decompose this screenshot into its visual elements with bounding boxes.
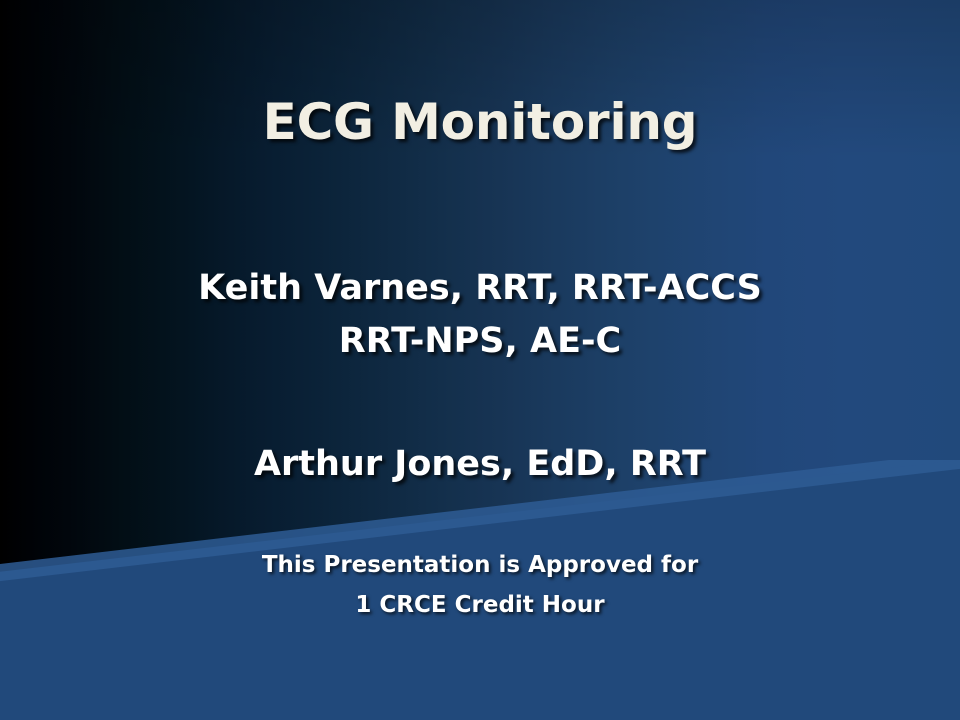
slide-content: ECG Monitoring Keith Varnes, RRT, RRT-AC… xyxy=(0,0,960,720)
author-line-primary: Keith Varnes, RRT, RRT-ACCS xyxy=(0,262,960,315)
author-line-secondary: Arthur Jones, EdD, RRT xyxy=(0,438,960,491)
approval-credit-hours: 1 CRCE Credit Hour xyxy=(0,586,960,626)
presentation-title-slide: ECG Monitoring Keith Varnes, RRT, RRT-AC… xyxy=(0,0,960,720)
author-block: Keith Varnes, RRT, RRT-ACCS RRT-NPS, AE-… xyxy=(0,262,960,368)
approval-statement: This Presentation is Approved for xyxy=(0,546,960,586)
approval-block: This Presentation is Approved for 1 CRCE… xyxy=(0,546,960,625)
author-credentials-line: RRT-NPS, AE-C xyxy=(0,315,960,368)
slide-title: ECG Monitoring xyxy=(0,96,960,149)
author-block-secondary: Arthur Jones, EdD, RRT xyxy=(0,438,960,491)
